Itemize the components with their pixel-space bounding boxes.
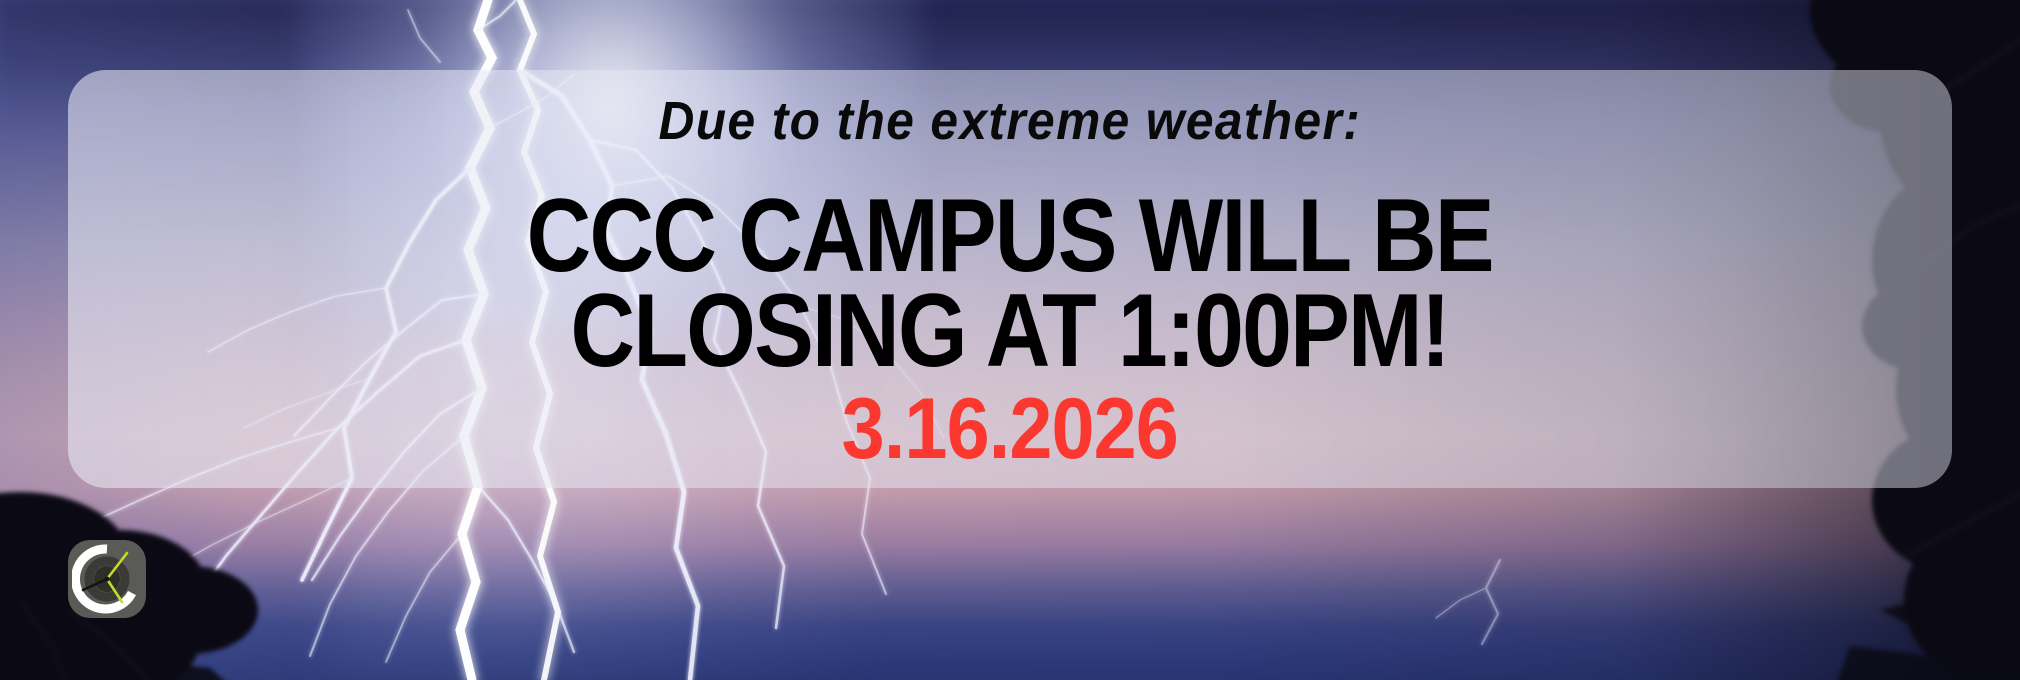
announcement-headline: CCC CAMPUS WILL BE CLOSING AT 1:00PM! [527,148,1493,382]
tree-silhouette-left [0,490,380,680]
banner-stage: Due to the extreme weather: CCC CAMPUS W… [0,0,2020,680]
announcement-date: 3.16.2026 [842,386,1178,472]
announcement-content: Due to the extreme weather: CCC CAMPUS W… [68,70,1952,488]
ccc-clock-logo[interactable] [68,540,146,618]
headline-line-2: CLOSING AT 1:00PM! [527,281,1493,382]
headline-line-1: CCC CAMPUS WILL BE [527,186,1493,287]
clock-logo-icon [72,544,142,614]
announcement-subtitle: Due to the extreme weather: [659,94,1362,148]
